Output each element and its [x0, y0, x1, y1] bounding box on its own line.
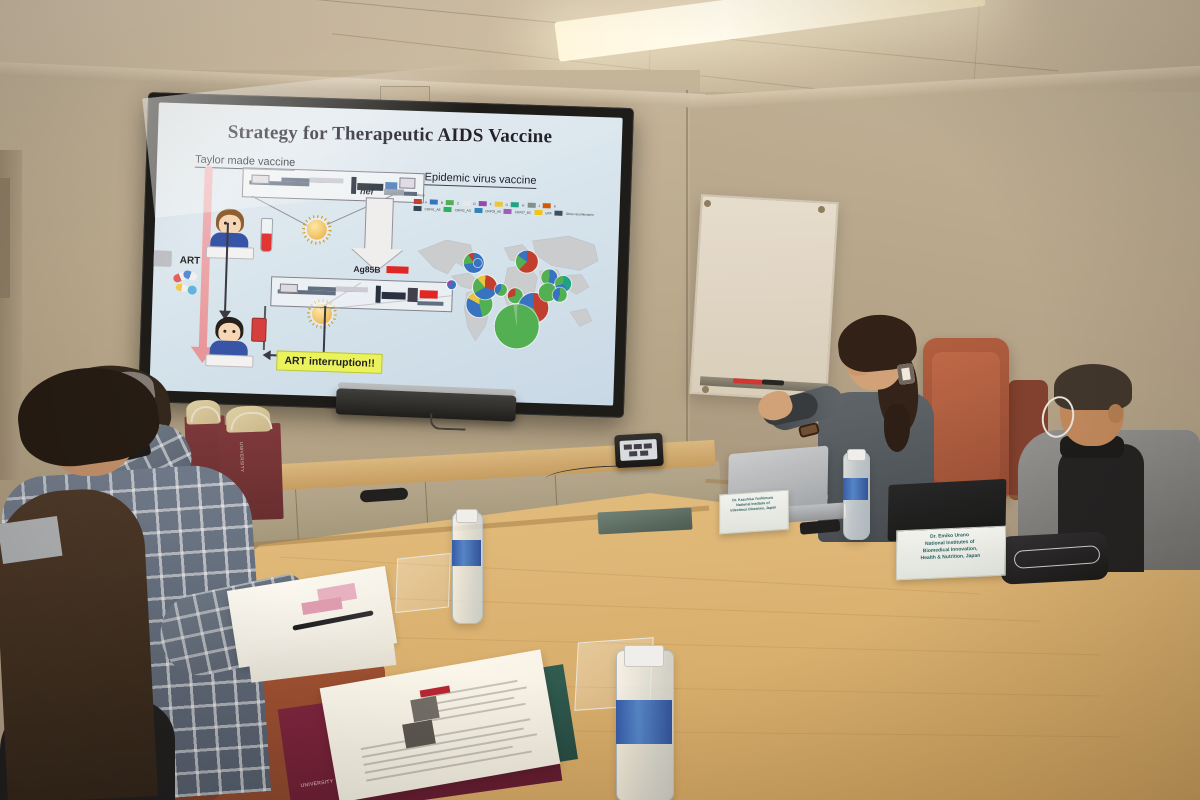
flow-arrow-head [262, 350, 270, 360]
bottle-cap [847, 449, 866, 461]
bottle-label [843, 478, 868, 500]
blood-sample-tube [260, 218, 273, 252]
conference-room-photo: Strategy for Therapeutic AIDS Vaccine Ta… [0, 0, 1200, 800]
hair-clip [897, 363, 916, 385]
sheet-photo [402, 720, 436, 749]
process-arrow [364, 197, 394, 252]
door-jamb [0, 178, 10, 298]
medication-icon [170, 271, 205, 298]
water-bottle[interactable] [452, 512, 483, 624]
art-interruption-callout: ART interruption!! [276, 350, 383, 374]
soundbar-cable [430, 413, 467, 430]
laptop-left[interactable] [0, 516, 62, 564]
slide-side-tag [151, 250, 172, 267]
acrylic-stand [395, 553, 451, 613]
virus-particle-icon [306, 219, 327, 240]
whiteboard-bolt [702, 386, 709, 393]
bottle-label [452, 540, 481, 566]
bottle-cap [624, 645, 664, 667]
iv-bag [251, 318, 267, 342]
whiteboard-bolt [818, 206, 825, 213]
wall-mounted-display[interactable]: Strategy for Therapeutic AIDS Vaccine Ta… [138, 92, 634, 418]
nameplate-presenter-text: Dr. Emiko Urano National Institutes of B… [899, 531, 1000, 563]
bottle-cap [456, 509, 478, 523]
whiteboard-bolt [704, 200, 711, 207]
ag85b-label: Ag85B [353, 264, 380, 275]
art-label: ART [180, 255, 201, 267]
patient-illustration-1 [206, 208, 254, 257]
ear [1108, 404, 1123, 423]
epidemic-map-figure: Subtype A B C D F G H J K CRF01_AE [408, 193, 610, 379]
whiteboard[interactable] [689, 194, 839, 402]
patient-illustration-2 [205, 316, 253, 365]
bottle-label [616, 700, 672, 744]
flow-arrow-vertical [323, 306, 326, 358]
ag85b-gene-bar [386, 266, 408, 274]
sheet-photo [410, 696, 439, 722]
presenter-ponytail [884, 404, 910, 452]
